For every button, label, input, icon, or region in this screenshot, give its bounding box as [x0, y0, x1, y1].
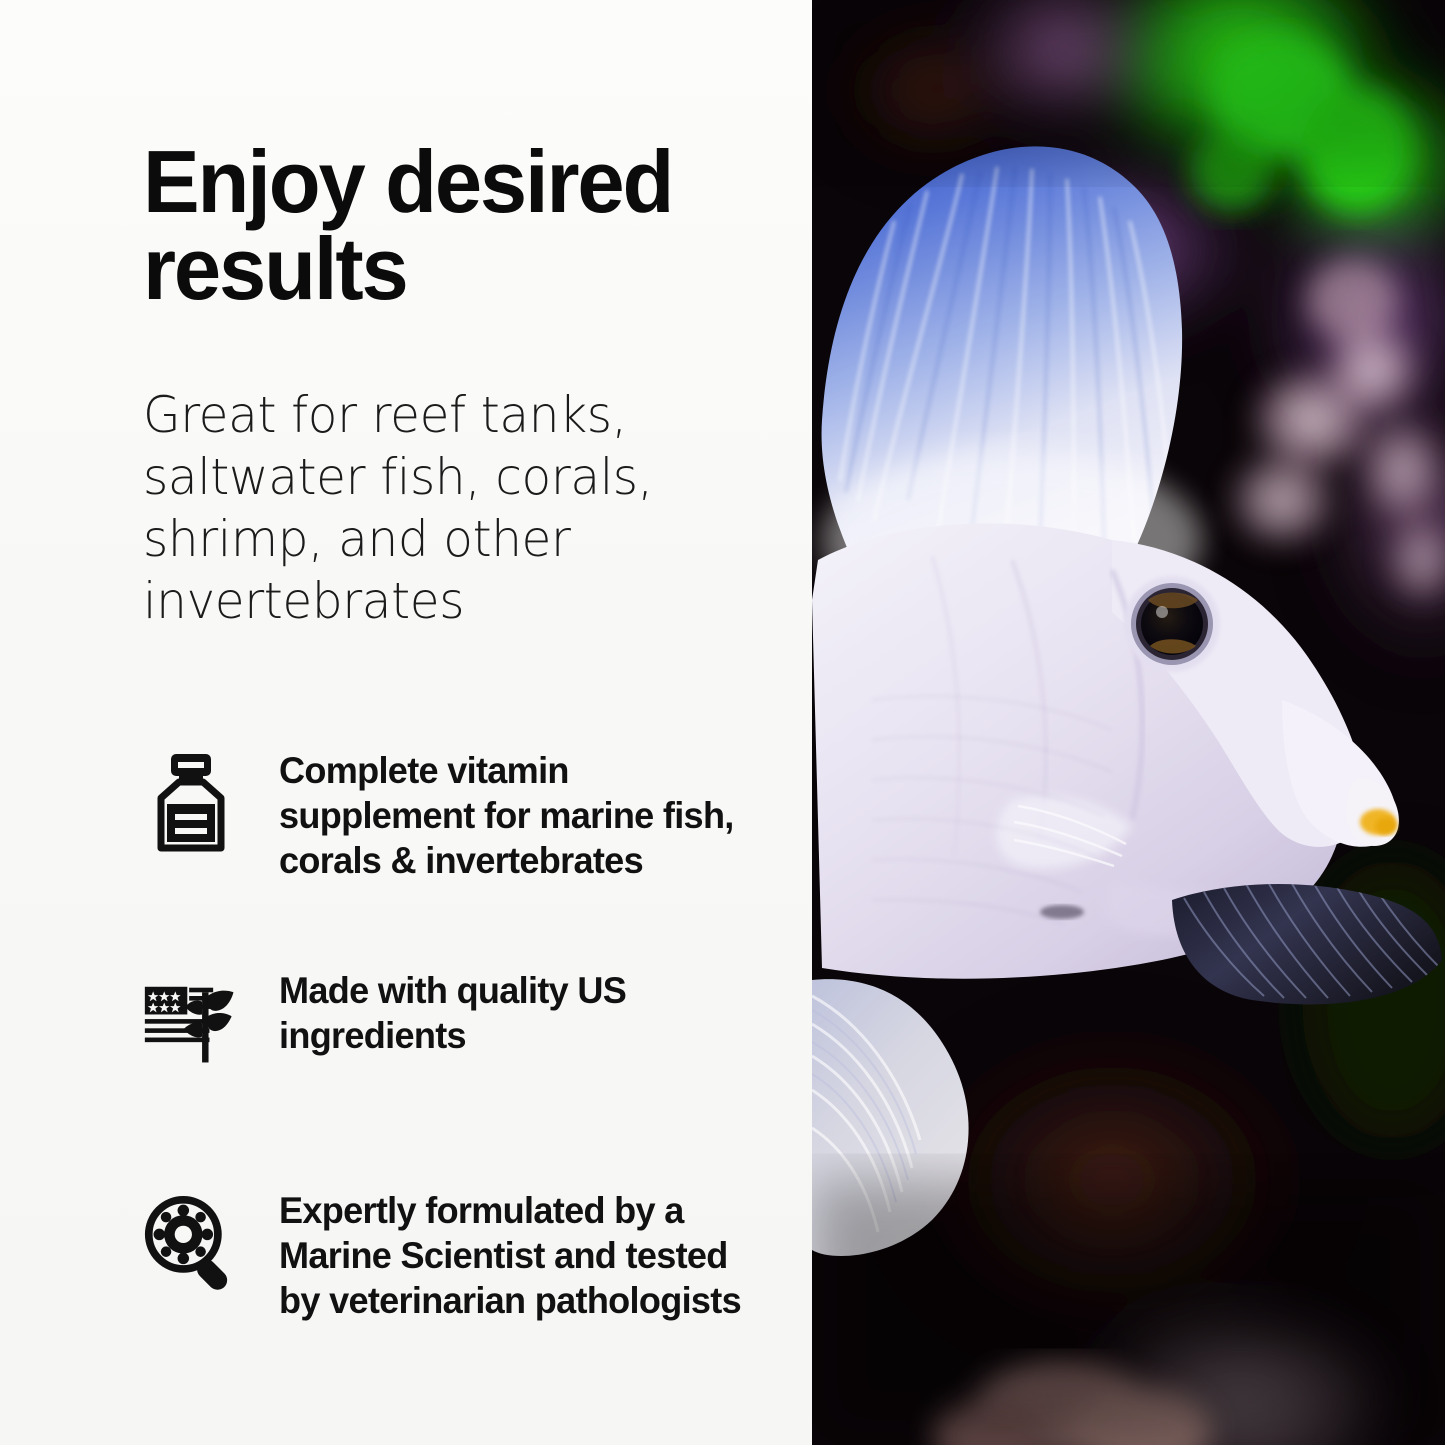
reef-fish-photograph [812, 0, 1445, 1445]
feature-list: Complete vitamin supplement for marine f… [0, 0, 812, 1445]
us-flag-plant-icon [143, 968, 239, 1064]
product-feature-graphic: Enjoy desired results Great for reef tan… [0, 0, 1445, 1445]
magnifier-microbe-icon [143, 1188, 239, 1284]
feature-label: Made with quality US ingredients [279, 968, 767, 1058]
feature-item-expert-formulated: Expertly formulated by a Marine Scientis… [143, 1188, 803, 1323]
feature-item-vitamin-supplement: Complete vitamin supplement for marine f… [143, 748, 803, 883]
copy-panel: Enjoy desired results Great for reef tan… [0, 0, 812, 1445]
fish-photo-panel [812, 0, 1445, 1445]
feature-item-us-ingredients: Made with quality US ingredients [143, 968, 803, 1064]
feature-label: Complete vitamin supplement for marine f… [279, 748, 767, 883]
supplement-bottle-icon [143, 748, 239, 844]
feature-label: Expertly formulated by a Marine Scientis… [279, 1188, 767, 1323]
